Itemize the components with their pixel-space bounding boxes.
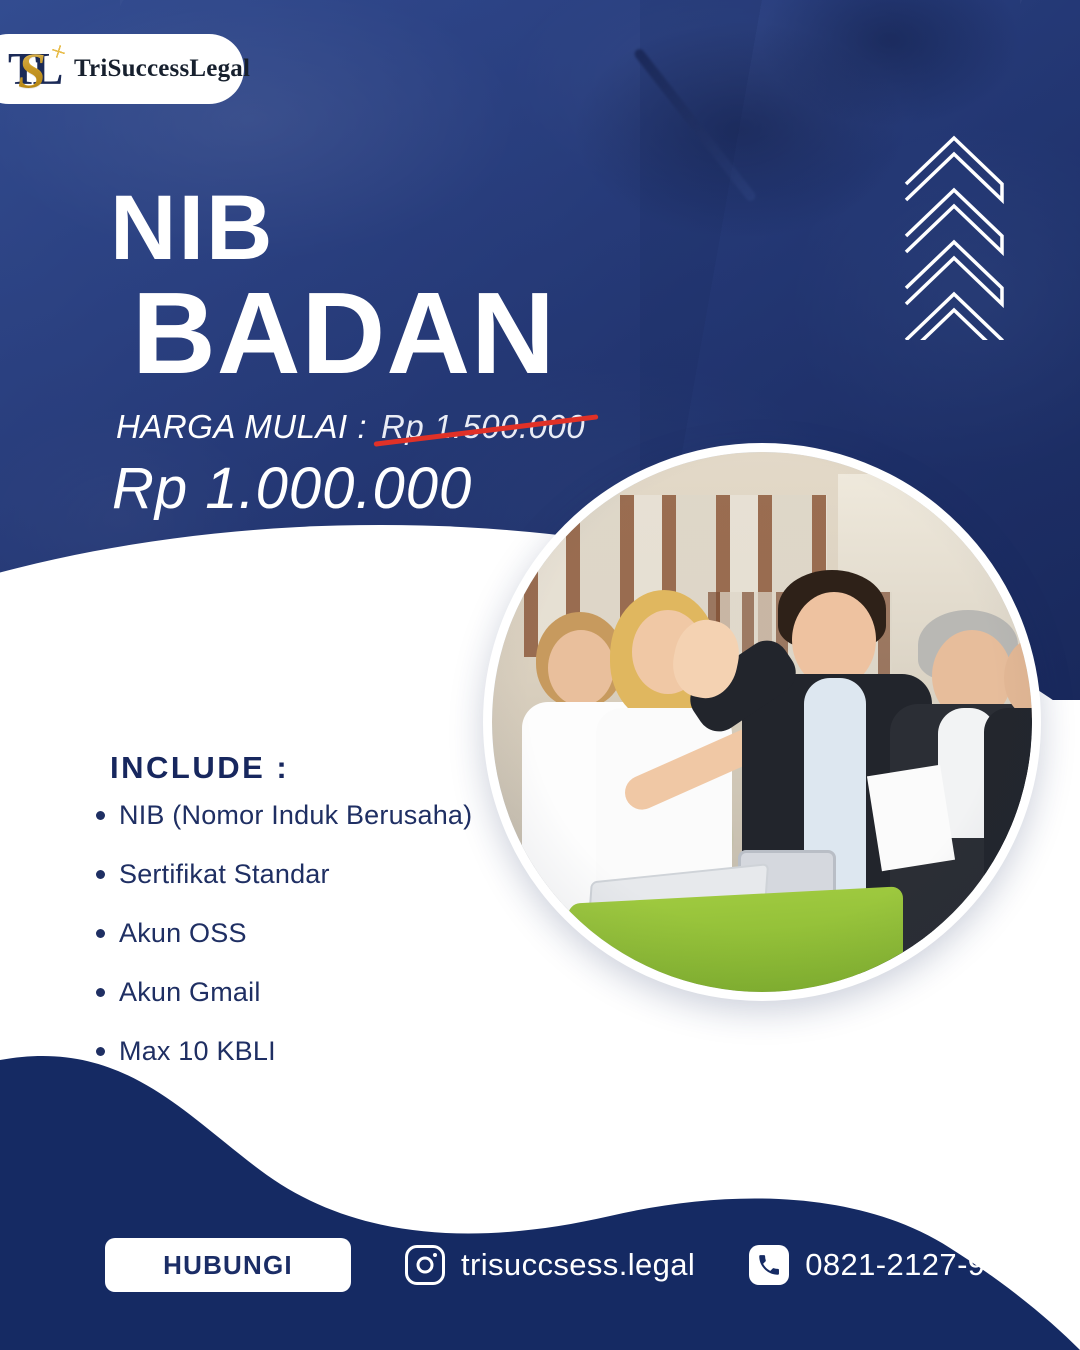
old-price: Rp 1.500.000 <box>381 408 585 446</box>
list-item-label: NIB (Nomor Induk Berusaha) <box>119 800 472 831</box>
brand-logo: TL S TriSuccessLegal <box>0 34 244 104</box>
bullet-icon <box>96 988 105 997</box>
logo-monogram-front: S <box>18 41 46 99</box>
headline-line-1: NIB <box>110 185 556 272</box>
list-item-label: Sertifikat Standar <box>119 859 330 890</box>
list-item-label: Max 10 KBLI <box>119 1036 276 1067</box>
phone-number: 0821-2127-9997 <box>805 1247 1038 1283</box>
instagram-contact[interactable]: trisuccsess.legal <box>405 1245 695 1285</box>
poster: TL S TriSuccessLegal NIB BADAN HARGA MUL… <box>0 0 1080 1350</box>
contact-button[interactable]: HUBUNGI <box>105 1238 351 1292</box>
chevron-up-icon-group <box>900 128 1008 340</box>
price-label: HARGA MULAI : <box>116 408 367 446</box>
headline-line-2: BADAN <box>132 278 556 388</box>
logo-monogram-icon: TL S <box>8 43 66 95</box>
photo-vignette <box>492 452 1032 992</box>
instagram-icon <box>405 1245 445 1285</box>
team-photo-inner <box>492 452 1032 992</box>
brand-name: TriSuccessLegal <box>74 55 250 83</box>
phone-icon <box>749 1245 789 1285</box>
bullet-icon <box>96 1047 105 1056</box>
list-item: Akun Gmail <box>96 977 472 1008</box>
headline: NIB BADAN <box>110 185 556 389</box>
include-heading: INCLUDE : <box>110 750 289 786</box>
include-list: NIB (Nomor Induk Berusaha) Sertifikat St… <box>96 800 472 1095</box>
list-item: Akun OSS <box>96 918 472 949</box>
team-photo <box>483 443 1041 1001</box>
new-price: Rp 1.000.000 <box>112 455 472 522</box>
list-item-label: Akun OSS <box>119 918 247 949</box>
instagram-handle: trisuccsess.legal <box>461 1247 695 1283</box>
list-item: Max 10 KBLI <box>96 1036 472 1067</box>
footer-contact-bar: HUBUNGI trisuccsess.legal 0821-2127-9997 <box>0 1180 1080 1350</box>
list-item: NIB (Nomor Induk Berusaha) <box>96 800 472 831</box>
bullet-icon <box>96 929 105 938</box>
bullet-icon <box>96 870 105 879</box>
phone-contact[interactable]: 0821-2127-9997 <box>749 1245 1038 1285</box>
list-item: Sertifikat Standar <box>96 859 472 890</box>
old-price-row: HARGA MULAI : Rp 1.500.000 <box>116 408 585 446</box>
bullet-icon <box>96 811 105 820</box>
list-item-label: Akun Gmail <box>119 977 261 1008</box>
